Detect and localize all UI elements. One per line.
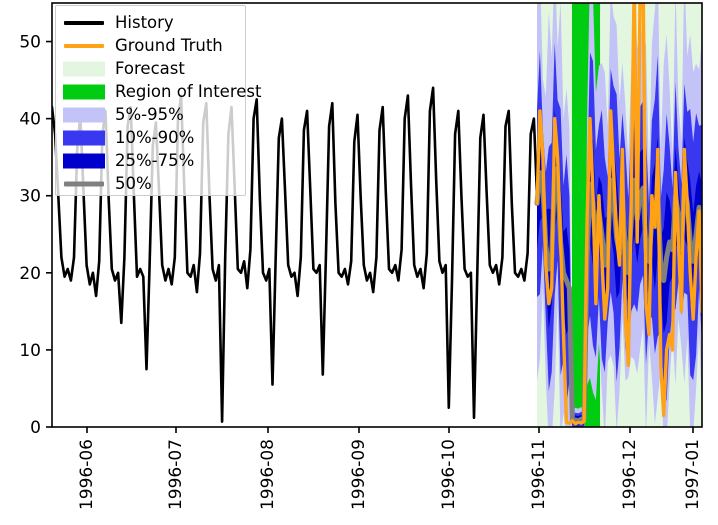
y-tick-label: 20: [19, 264, 41, 284]
x-tick-label: 1996-07: [166, 439, 186, 510]
legend-swatch-10-90: [62, 126, 106, 149]
legend-item-region-of-interest: Region of Interest: [62, 80, 239, 103]
x-tick-label: 1996-09: [349, 439, 369, 510]
y-axis-ticks: 01020304050: [19, 33, 52, 438]
legend-swatch-history: [62, 11, 106, 34]
legend-label-history: History: [115, 11, 174, 34]
legend-swatch-25-75: [62, 149, 106, 172]
legend-swatch-region-of-interest: [62, 80, 106, 103]
y-tick-label: 30: [19, 187, 41, 207]
legend-swatch-50: [62, 172, 106, 195]
legend-item-forecast: Forecast: [62, 57, 239, 80]
legend-item-25-75: 25%-75%: [62, 149, 239, 172]
forecast-chart-figure: 01020304050 1996-061996-071996-081996-09…: [0, 0, 718, 525]
legend-label-forecast: Forecast: [115, 57, 185, 80]
legend-label-5-95: 5%-95%: [115, 103, 184, 126]
legend-label-10-90: 10%-90%: [115, 126, 194, 149]
legend-item-5-95: 5%-95%: [62, 103, 239, 126]
legend-label-50: 50%: [115, 172, 152, 195]
y-tick-label: 50: [19, 33, 41, 53]
legend-item-ground-truth: Ground Truth: [62, 34, 239, 57]
y-tick-label: 10: [19, 341, 41, 361]
y-tick-label: 40: [19, 110, 41, 130]
legend-item-50: 50%: [62, 172, 239, 195]
x-tick-label: 1997-01: [683, 439, 703, 510]
x-axis-ticks: 1996-061996-071996-081996-091996-101996-…: [77, 427, 703, 510]
x-tick-label: 1996-06: [77, 439, 97, 510]
legend-swatch-forecast: [62, 57, 106, 80]
legend-swatch-5-95: [62, 103, 106, 126]
chart-legend: History Ground Truth Forecast Region of …: [55, 5, 246, 196]
x-tick-label: 1996-12: [620, 439, 640, 510]
x-tick-label: 1996-11: [529, 439, 549, 510]
x-tick-label: 1996-10: [439, 439, 459, 510]
legend-label-region-of-interest: Region of Interest: [115, 80, 261, 103]
legend-item-10-90: 10%-90%: [62, 126, 239, 149]
y-tick-label: 0: [30, 418, 41, 438]
legend-label-ground-truth: Ground Truth: [115, 34, 223, 57]
legend-item-history: History: [62, 11, 239, 34]
legend-label-25-75: 25%-75%: [115, 149, 194, 172]
x-tick-label: 1996-08: [258, 439, 278, 510]
legend-swatch-ground-truth: [62, 34, 106, 57]
